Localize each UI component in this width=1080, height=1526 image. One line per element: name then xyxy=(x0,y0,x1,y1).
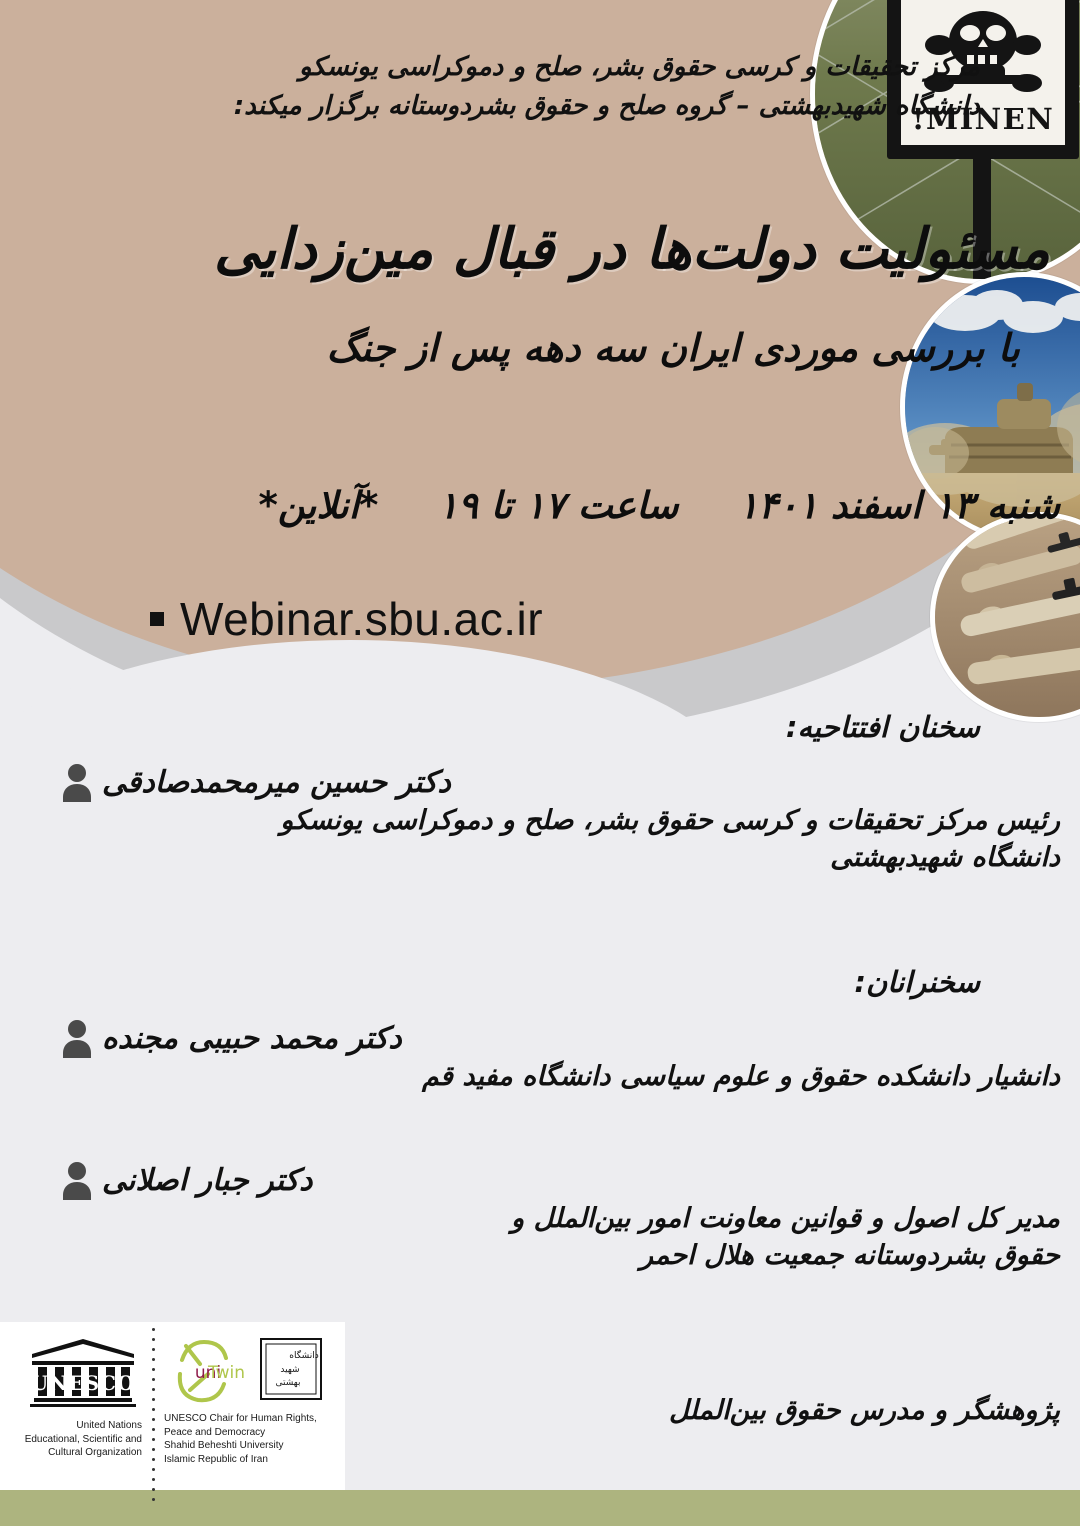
svg-text:شهید: شهید xyxy=(280,1365,299,1375)
chair-logo-group: uni Twin دانشگاه شهید بهشتی UNESCO Chair… xyxy=(158,1322,345,1466)
speaker-2-affiliation-1: مدیر کل اصول و قوانین معاونت امور بین‌ال… xyxy=(60,1200,1060,1237)
chair-caption-line-3: Shahid Beheshti University xyxy=(164,1439,337,1453)
page-title: مسئولیت دولت‌ها در قبال مین‌زدایی xyxy=(40,218,1050,282)
organizer-line-2: دانشگاه شهیدبهشتی – گروه صلح و حقوق بشرد… xyxy=(220,87,980,126)
opening-remarks-heading: سخنان افتتاحیه: xyxy=(786,710,980,744)
opening-speaker-name: دکتر حسین میرمحمدصادقی xyxy=(102,765,451,800)
page-subtitle: با بررسی موردی ایران سه دهه پس از جنگ xyxy=(40,326,1020,372)
divider-dot xyxy=(152,1428,155,1431)
divider-dot xyxy=(152,1488,155,1491)
speaker-2-name: دکتر جبار اصلانی xyxy=(102,1163,312,1198)
divider-dot xyxy=(152,1378,155,1381)
speaker-2-affiliation-2: حقوق بشردوستانه جمعیت هلال احمر xyxy=(60,1237,1060,1274)
event-date: شنبه ۱۳ اسفند ۱۴۰۱ xyxy=(738,484,1060,527)
person-icon xyxy=(60,762,94,802)
divider-dot xyxy=(152,1498,155,1501)
divider-dot xyxy=(152,1478,155,1481)
speakers-heading: سخنرانان: xyxy=(854,965,980,999)
divider-dot xyxy=(152,1368,155,1371)
svg-text:Twin: Twin xyxy=(207,1363,245,1383)
unesco-temple-icon: UNESCO xyxy=(24,1336,142,1408)
divider-dot xyxy=(152,1348,155,1351)
unesco-caption: United Nations Educational, Scientific a… xyxy=(6,1419,142,1460)
opening-speaker-affiliation-1: رئیس مرکز تحقیقات و کرسی حقوق بشر، صلح و… xyxy=(60,802,1060,839)
organizer-line-1: مرکز تحقیقات و کرسی حقوق بشر، صلح و دموک… xyxy=(220,48,980,87)
dotted-divider xyxy=(148,1322,158,1501)
footer-logo-block: UNESCO United Nations Educational, Scien… xyxy=(0,1322,345,1490)
chair-caption-line-4: Islamic Republic of Iran xyxy=(164,1453,337,1467)
divider-dot xyxy=(152,1328,155,1331)
unesco-caption-line-3: Cultural Organization xyxy=(6,1446,142,1460)
svg-text:بهشتی: بهشتی xyxy=(276,1378,301,1388)
opening-speaker-affiliation-2: دانشگاه شهیدبهشتی xyxy=(60,839,1060,876)
speaker-entry-1: دکتر محمد حبیبی مجنده دانشیار دانشکده حق… xyxy=(60,1018,1060,1095)
unesco-logo-group: UNESCO United Nations Educational, Scien… xyxy=(0,1322,148,1460)
opening-speaker-entry: دکتر حسین میرمحمدصادقی رئیس مرکز تحقیقات… xyxy=(60,762,1060,877)
chair-caption-line-1: UNESCO Chair for Human Rights, xyxy=(164,1412,337,1426)
speaker-entry-2: دکتر جبار اصلانی مدیر کل اصول و قوانین م… xyxy=(60,1160,1060,1275)
poster-canvas: ACHTUNG MINEN! xyxy=(0,0,1080,1526)
divider-dot xyxy=(152,1468,155,1471)
speaker-2-nameline: دکتر جبار اصلانی xyxy=(60,1160,1060,1200)
event-mode: *آنلاین* xyxy=(259,484,379,527)
divider-dot xyxy=(152,1398,155,1401)
shahid-beheshti-university-icon: دانشگاه شهید بهشتی xyxy=(260,1338,322,1400)
speaker-1-name: دکتر محمد حبیبی مجنده xyxy=(102,1021,402,1056)
opening-speaker-nameline: دکتر حسین میرمحمدصادقی xyxy=(60,762,1060,802)
webinar-url-link[interactable]: Webinar.sbu.ac.ir xyxy=(180,592,543,646)
chair-marks-row: uni Twin دانشگاه شهید بهشتی xyxy=(164,1334,337,1406)
divider-dot xyxy=(152,1458,155,1461)
person-icon xyxy=(60,1018,94,1058)
svg-text:UNESCO: UNESCO xyxy=(31,1371,136,1395)
event-time: ساعت ۱۷ تا ۱۹ xyxy=(438,484,678,527)
green-footer-bar xyxy=(0,1490,1080,1526)
person-icon xyxy=(60,1160,94,1200)
divider-dot xyxy=(152,1338,155,1341)
unesco-caption-line-1: United Nations xyxy=(6,1419,142,1433)
chair-caption: UNESCO Chair for Human Rights, Peace and… xyxy=(164,1412,337,1466)
divider-dot xyxy=(152,1438,155,1441)
divider-dot xyxy=(152,1448,155,1451)
svg-text:دانشگاه: دانشگاه xyxy=(289,1349,318,1361)
divider-dot xyxy=(152,1418,155,1421)
unitwin-icon: uni Twin xyxy=(164,1334,252,1406)
divider-dot xyxy=(152,1408,155,1411)
organizer-header: مرکز تحقیقات و کرسی حقوق بشر، صلح و دموک… xyxy=(220,48,980,126)
event-datetime-row: شنبه ۱۳ اسفند ۱۴۰۱ ساعت ۱۷ تا ۱۹ *آنلاین… xyxy=(20,484,1060,527)
square-bullet-icon xyxy=(150,612,164,626)
speaker-1-nameline: دکتر محمد حبیبی مجنده xyxy=(60,1018,1060,1058)
unesco-caption-line-2: Educational, Scientific and xyxy=(6,1433,142,1447)
webinar-url-row[interactable]: Webinar.sbu.ac.ir xyxy=(150,592,543,646)
divider-dot xyxy=(152,1358,155,1361)
divider-dot xyxy=(152,1388,155,1391)
speaker-1-affiliation-1: دانشیار دانشکده حقوق و علوم سیاسی دانشگا… xyxy=(60,1058,1060,1095)
chair-caption-line-2: Peace and Democracy xyxy=(164,1426,337,1440)
